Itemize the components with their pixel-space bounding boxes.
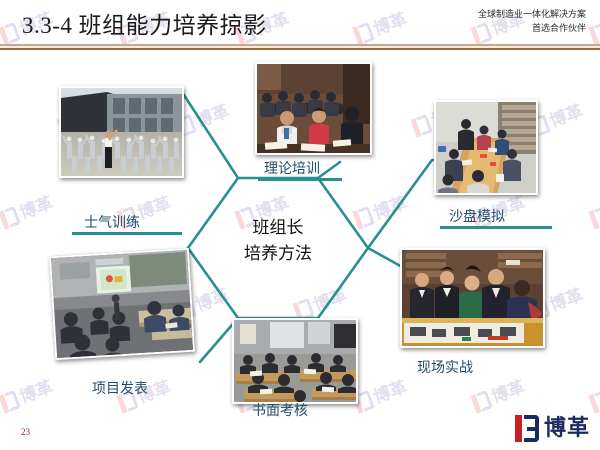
- training-method-diagram: 士气训练: [0, 0, 600, 450]
- center-label-line-1: 班组长: [213, 215, 343, 241]
- boge-logo: 博革: [515, 415, 590, 442]
- photo-morale-image: [61, 88, 182, 176]
- brand-tagline: 全球制造业一体化解决方案 首选合作伙伴: [478, 8, 586, 36]
- node-label-sandtable: 沙盘模拟: [449, 206, 505, 226]
- node-label-onsite: 现场实战: [417, 357, 473, 377]
- tagline-line-1: 全球制造业一体化解决方案: [478, 8, 586, 22]
- photo-theory-image: [257, 64, 370, 153]
- node-label-written: 书面考核: [252, 400, 308, 420]
- header-divider-bottom: [0, 48, 600, 50]
- photo-project-image: [51, 250, 193, 358]
- node-label-theory: 理论培训: [264, 158, 320, 178]
- photo-written: [232, 318, 358, 404]
- boge-logo-icon: [515, 415, 539, 442]
- photo-sandtable: [434, 100, 538, 195]
- logo-wordmark: 博革: [544, 418, 590, 440]
- photo-morale: [59, 86, 184, 178]
- logo-g-tick: [527, 427, 535, 431]
- photo-written-image: [234, 320, 356, 402]
- center-label-line-2: 培养方法: [213, 241, 343, 267]
- photo-onsite-image: [402, 250, 543, 346]
- node-label-project: 项目发表: [92, 378, 148, 398]
- node-underline-theory: [258, 178, 342, 181]
- node-underline-sandtable: [440, 226, 552, 229]
- photo-project: [49, 248, 195, 360]
- slide-header: 3.3-4 班组能力培养掠影 全球制造业一体化解决方案 首选合作伙伴: [0, 0, 600, 50]
- node-underline-morale: [72, 232, 182, 235]
- slide-canvas: 博革博革博革博革博革博革博革博革博革博革博革博革博革博革博革博革博革博革博革博革…: [0, 0, 600, 450]
- logo-bar-shape: [515, 415, 522, 442]
- diagram-center-label: 班组长 培养方法: [213, 215, 343, 268]
- photo-onsite: [400, 248, 545, 348]
- tagline-line-2: 首选合作伙伴: [478, 22, 586, 36]
- node-label-morale: 士气训练: [84, 212, 140, 232]
- photo-theory: [255, 62, 372, 155]
- photo-sandtable-image: [436, 102, 536, 193]
- page-title: 3.3-4 班组能力培养掠影: [22, 6, 267, 40]
- page-number: 23: [21, 427, 30, 437]
